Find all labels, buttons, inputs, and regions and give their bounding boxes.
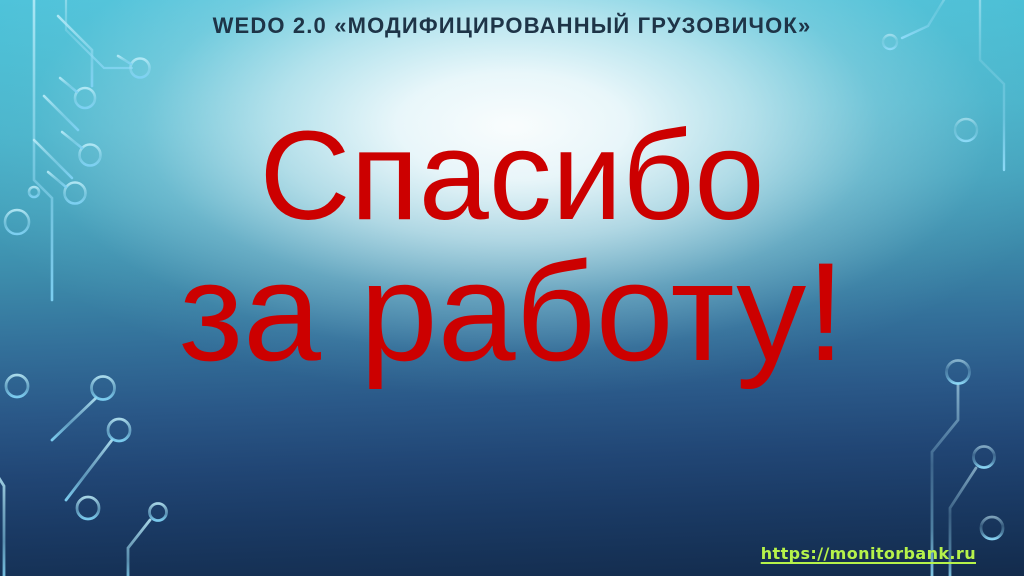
thank-you-message: Спасибо за работу! xyxy=(0,112,1024,383)
slide-title-bar: WeDo 2.0 «Модифицированный грузовичок» xyxy=(0,0,1024,52)
presentation-slide: WeDo 2.0 «Модифицированный грузовичок» С… xyxy=(0,0,1024,576)
page-title: WeDo 2.0 «Модифицированный грузовичок» xyxy=(213,13,812,39)
source-website-link[interactable]: https://monitorbank.ru xyxy=(761,544,976,563)
message-line-1: Спасибо xyxy=(0,112,1024,241)
message-line-2: за работу! xyxy=(0,241,1024,384)
